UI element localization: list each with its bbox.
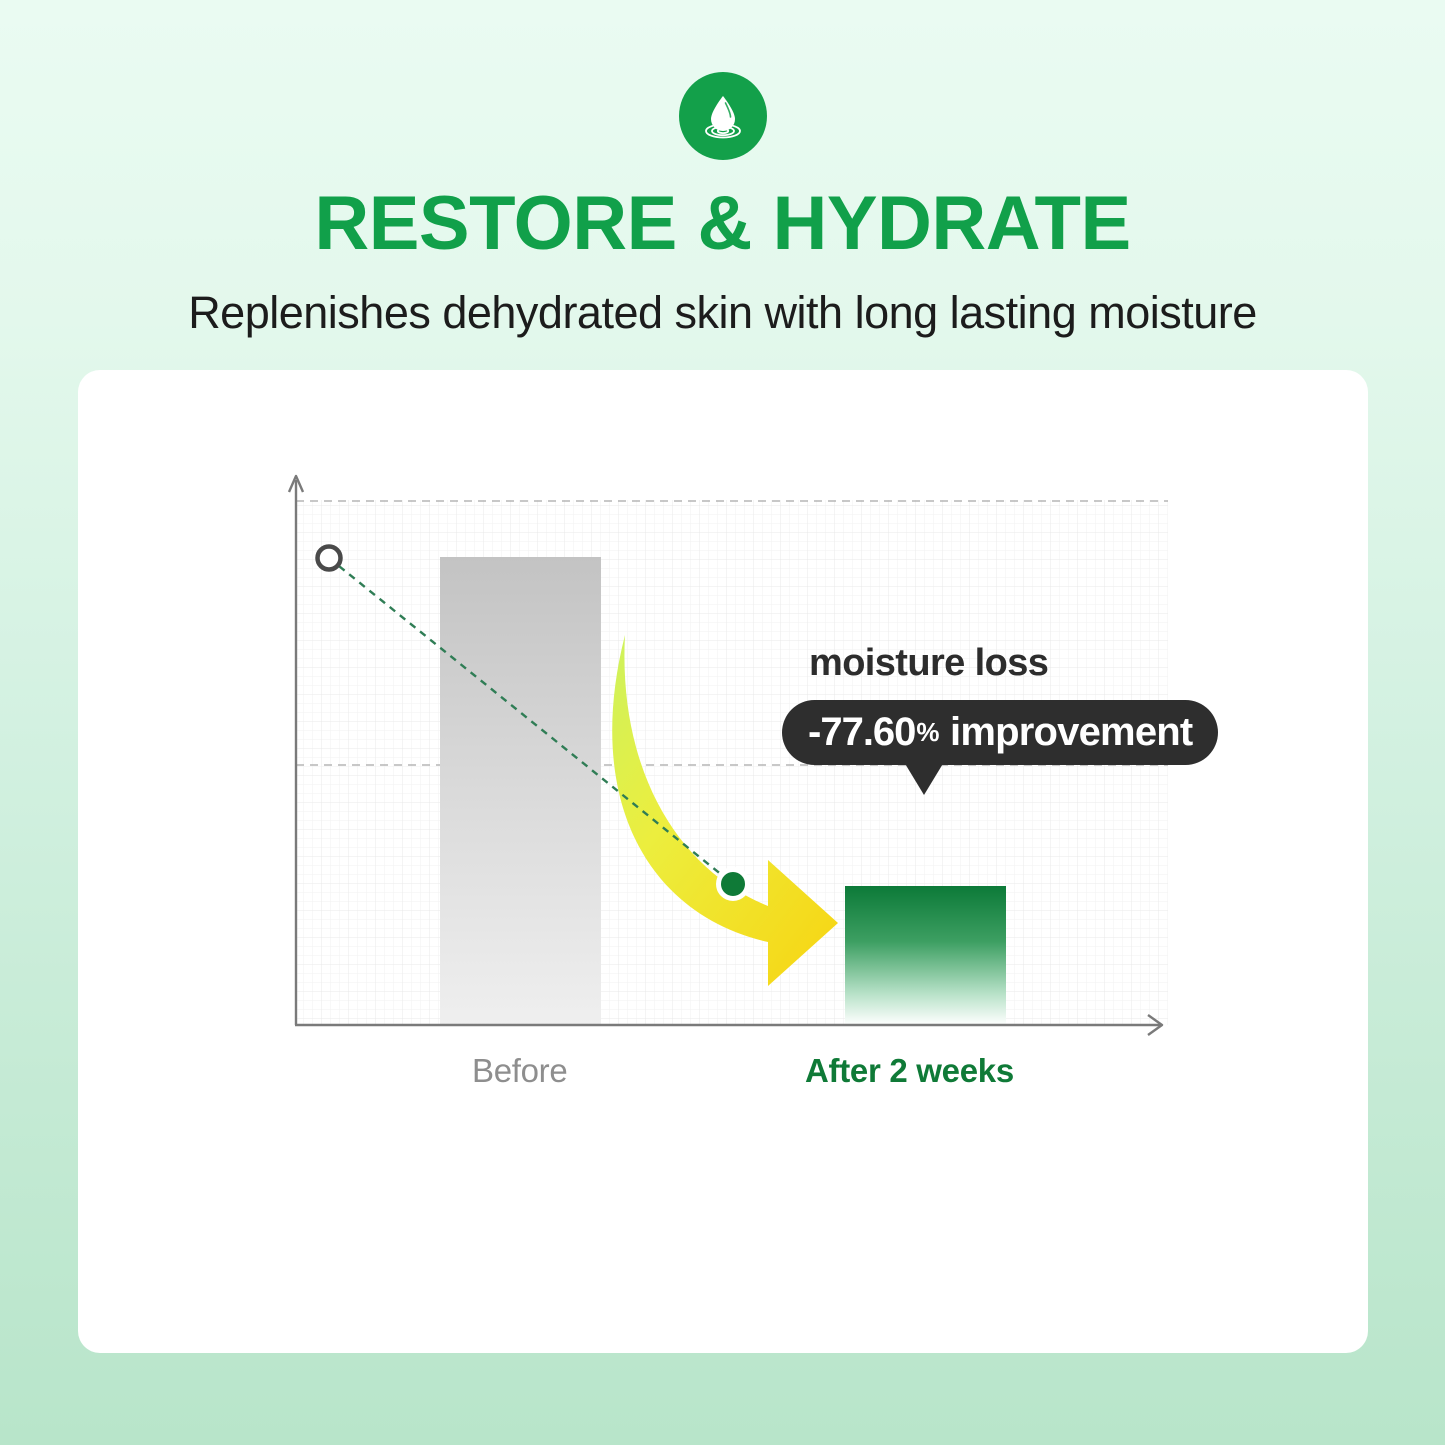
- data-point-after: [719, 870, 748, 899]
- water-drop-icon: [679, 72, 767, 160]
- callout-metric-label: moisture loss: [809, 642, 1048, 685]
- improvement-word: improvement: [950, 710, 1192, 755]
- badge-pointer: [904, 762, 944, 795]
- bar-after: [845, 886, 1006, 1025]
- bar-before: [440, 557, 601, 1025]
- category-label-before: Before: [472, 1052, 567, 1090]
- category-label-after: After 2 weeks: [805, 1052, 1014, 1090]
- improvement-badge: -77.60 % improvement: [782, 700, 1218, 765]
- hero-header: RESTORE & HYDRATE Replenishes dehydrated…: [0, 0, 1445, 338]
- data-point-before: [318, 547, 341, 570]
- chart-svg: [78, 370, 1368, 1353]
- before-after-bar-chart: Before After 2 weeks moisture loss -77.6…: [78, 370, 1368, 1353]
- page-subtitle: Replenishes dehydrated skin with long la…: [188, 288, 1257, 338]
- percent-symbol: %: [916, 717, 939, 748]
- improvement-value: -77.60: [808, 710, 915, 755]
- page-title: RESTORE & HYDRATE: [314, 186, 1130, 262]
- chart-card: Before After 2 weeks moisture loss -77.6…: [78, 370, 1368, 1353]
